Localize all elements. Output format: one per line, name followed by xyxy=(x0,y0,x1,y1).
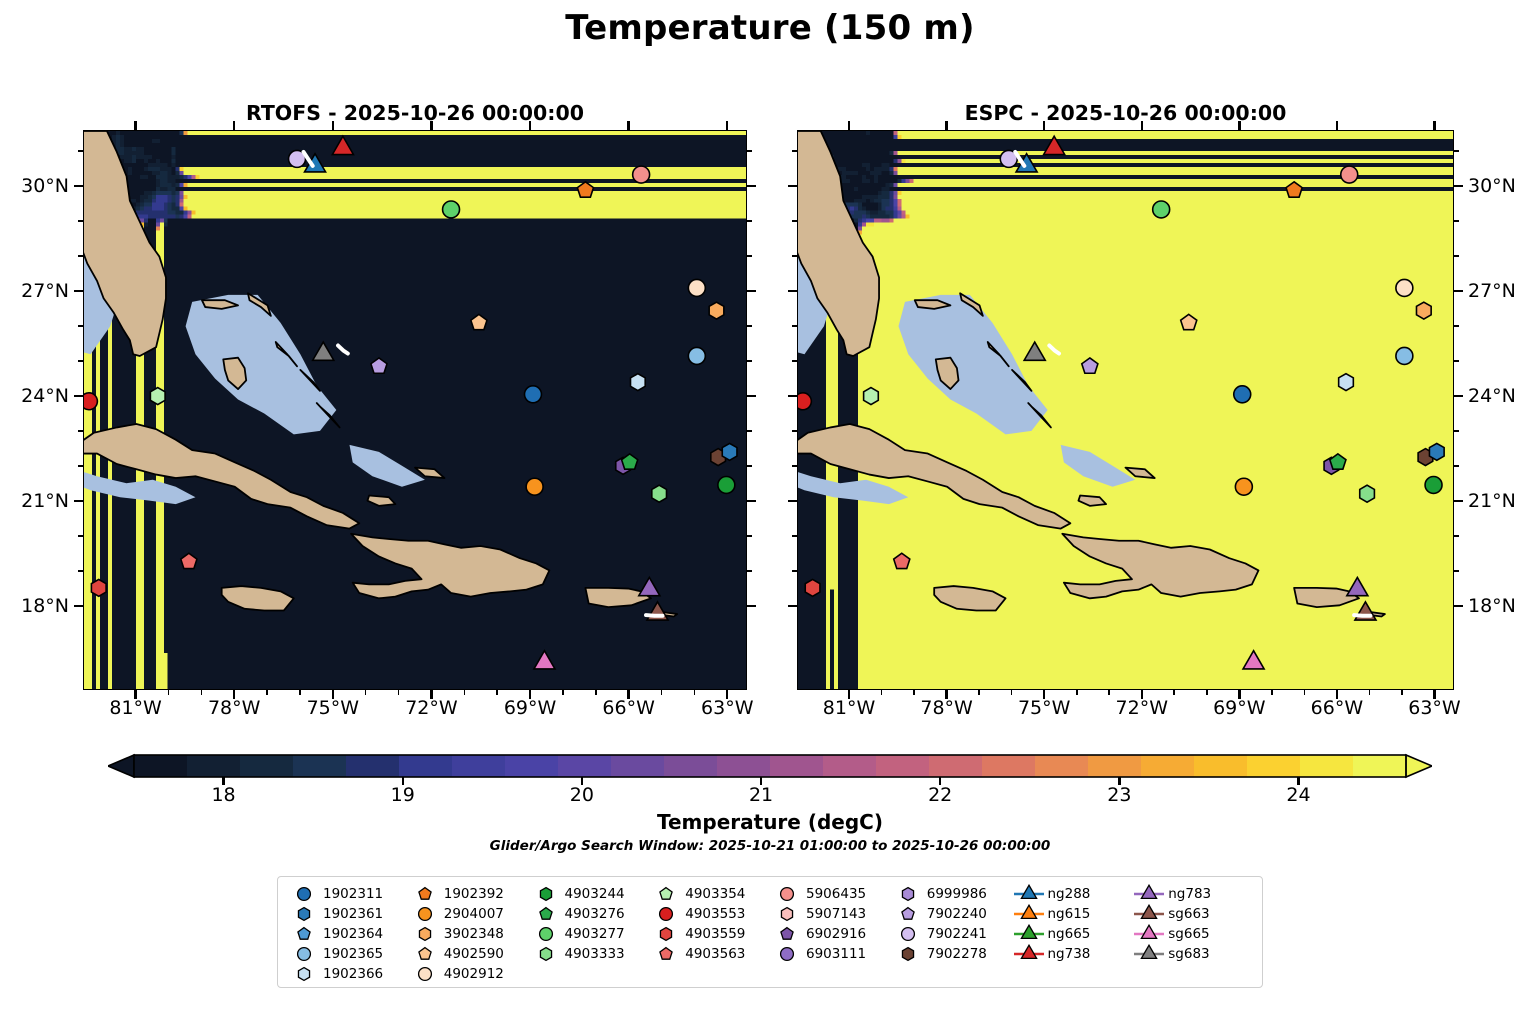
xtick-top-espc-1 xyxy=(945,121,947,130)
ytick-minor-r-espc-0-1 xyxy=(1454,570,1459,572)
ytick-minor-r-espc-3-2 xyxy=(1454,220,1459,222)
legend-marker-ng288-icon xyxy=(1012,884,1046,904)
legend-marker-4903244-icon xyxy=(529,884,563,904)
xtick-label-espc-3: 72°W xyxy=(1116,697,1168,719)
xtick-minor-espc-3-1 xyxy=(1173,690,1175,695)
legend-column-7: ng783sg663sg665sg683 xyxy=(1132,884,1253,964)
ytick-left-espc-1 xyxy=(788,500,797,502)
legend-label-1902364: 1902364 xyxy=(321,926,383,942)
ytick-minor-l-rtofs-1-2 xyxy=(78,430,83,432)
legend-label-1902361: 1902361 xyxy=(321,906,383,922)
marker-1902365[interactable] xyxy=(688,347,705,364)
ytick-minor-l-rtofs-2-2 xyxy=(78,325,83,327)
xtick-top-espc-2 xyxy=(1043,121,1045,130)
colorbar-ticklabel-3: 21 xyxy=(749,784,773,806)
marker-4903277[interactable] xyxy=(443,201,460,218)
xtick-minor-rtofs-4-2 xyxy=(595,690,597,695)
xtick-minor-rtofs-0-2 xyxy=(201,690,203,695)
legend-marker-5907143-icon xyxy=(770,904,804,924)
map-panel-espc[interactable] xyxy=(797,130,1454,690)
xtick-top-rtofs-5 xyxy=(627,121,629,130)
xtick-minor-rtofs-2-1 xyxy=(365,690,367,695)
xtick-minor-rtofs-4-1 xyxy=(562,690,564,695)
xtick-minor-rtofs-1-1 xyxy=(266,690,268,695)
xtick-minor-espc-4-1 xyxy=(1271,690,1273,695)
ytick-label-right-2: 24°N xyxy=(1468,385,1516,407)
legend-label-ng288: ng288 xyxy=(1046,886,1091,902)
legend-label-sg663: sg663 xyxy=(1166,906,1209,922)
colorbar-ticklabel-1: 19 xyxy=(391,784,415,806)
ytick-minor-l-espc-2-2 xyxy=(792,325,797,327)
legend-item-ng288[interactable]: ng288 xyxy=(1012,884,1133,904)
xtick-minor-rtofs-0-1 xyxy=(168,690,170,695)
xtick-top-espc-3 xyxy=(1141,121,1143,130)
legend-label-3902348: 3902348 xyxy=(442,926,504,942)
legend-item-ng615[interactable]: ng615 xyxy=(1012,904,1133,924)
legend-label-6903111: 6903111 xyxy=(804,946,866,962)
ytick-label-right-3: 27°N xyxy=(1468,280,1516,302)
legend-marker-4903354-icon xyxy=(649,884,683,904)
ytick-minor-r-espc-3-1 xyxy=(1454,255,1459,257)
ytick-minor-r-espc-2-2 xyxy=(1454,325,1459,327)
ytick-minor-r-rtofs-3-1 xyxy=(747,255,752,257)
legend-marker-7902278-icon xyxy=(891,944,925,964)
marker-4903559[interactable] xyxy=(91,579,106,596)
xtick-minor-espc-2-1 xyxy=(1076,690,1078,695)
ytick-minor-l-rtofs-1-1 xyxy=(78,465,83,467)
legend-item-7902240[interactable]: 7902240 xyxy=(891,904,1012,924)
ytick-right-espc-0 xyxy=(1454,605,1463,607)
xtick-minor-espc-4-2 xyxy=(1304,690,1306,695)
legend-item-6902916[interactable]: 6902916 xyxy=(770,924,891,944)
xtick-label-espc-6: 63°W xyxy=(1408,697,1460,719)
map-panel-rtofs[interactable] xyxy=(83,130,747,690)
ytick-minor-l-rtofs-0-2 xyxy=(78,535,83,537)
legend-item-1902392[interactable]: 1902392 xyxy=(408,884,529,904)
ytick-right-rtofs-0 xyxy=(747,605,756,607)
legend-item-4902912[interactable]: 4902912 xyxy=(408,964,529,984)
marker-4903354[interactable] xyxy=(864,388,879,405)
xtick-label-espc-0: 81°W xyxy=(823,697,875,719)
marker-1902361[interactable] xyxy=(1429,443,1444,460)
ytick-right-espc-1 xyxy=(1454,500,1463,502)
legend-label-ng738: ng738 xyxy=(1046,946,1091,962)
xtick-top-rtofs-4 xyxy=(529,121,531,130)
legend-item-ng738[interactable]: ng738 xyxy=(1012,944,1133,964)
xtick-minor-rtofs-5-1 xyxy=(661,690,663,695)
legend-label-ng665: ng665 xyxy=(1046,926,1091,942)
ytick-label-left-2: 24°N xyxy=(0,385,69,407)
legend-item-6903111[interactable]: 6903111 xyxy=(770,944,891,964)
legend-label-sg665: sg665 xyxy=(1166,926,1209,942)
legend-item-5907143[interactable]: 5907143 xyxy=(770,904,891,924)
legend-label-4903333: 4903333 xyxy=(563,946,625,962)
xtick-minor-rtofs-5-2 xyxy=(694,690,696,695)
legend-item-4903553[interactable]: 4903553 xyxy=(649,904,770,924)
ytick-minor-l-espc-4-1 xyxy=(792,150,797,152)
ytick-minor-r-espc-1-1 xyxy=(1454,465,1459,467)
marker-1902311[interactable] xyxy=(525,386,542,403)
legend-marker-6902916-icon xyxy=(770,924,804,944)
legend-label-7902241: 7902241 xyxy=(925,926,987,942)
legend-item-4903563[interactable]: 4903563 xyxy=(649,944,770,964)
legend-label-4903553: 4903553 xyxy=(683,906,745,922)
legend-marker-4903277-icon xyxy=(529,924,563,944)
ytick-label-right-4: 30°N xyxy=(1468,175,1516,197)
xtick-top-rtofs-3 xyxy=(430,121,432,130)
legend-label-ng615: ng615 xyxy=(1046,906,1091,922)
ytick-minor-l-rtofs-2-1 xyxy=(78,360,83,362)
legend-marker-1902361-icon xyxy=(287,904,321,924)
xtick-minor-rtofs-2-2 xyxy=(398,690,400,695)
legend-item-5906435[interactable]: 5906435 xyxy=(770,884,891,904)
legend-item-sg665[interactable]: sg665 xyxy=(1132,924,1253,944)
legend-marker-4902590-icon xyxy=(408,944,442,964)
ytick-left-rtofs-2 xyxy=(74,395,83,397)
legend-marker-1902311-icon xyxy=(287,884,321,904)
legend-label-ng783: ng783 xyxy=(1166,886,1211,902)
legend-item-4903333[interactable]: 4903333 xyxy=(529,944,650,964)
ytick-label-right-0: 18°N xyxy=(1468,595,1516,617)
panel-title-rtofs: RTOFS - 2025-10-26 00:00:00 xyxy=(83,101,747,125)
legend-marker-2904007-icon xyxy=(408,904,442,924)
marker-1902311[interactable] xyxy=(1234,386,1251,403)
xtick-top-rtofs-1 xyxy=(233,121,235,130)
legend-item-ng665[interactable]: ng665 xyxy=(1012,924,1133,944)
ytick-minor-r-espc-1-2 xyxy=(1454,430,1459,432)
legend-marker-ng665-icon xyxy=(1012,924,1046,944)
legend-item-1902361[interactable]: 1902361 xyxy=(287,904,408,924)
legend-item-4903354[interactable]: 4903354 xyxy=(649,884,770,904)
legend-label-4903563: 4903563 xyxy=(683,946,745,962)
marker-2904007[interactable] xyxy=(526,478,543,495)
legend-item-sg663[interactable]: sg663 xyxy=(1132,904,1253,924)
xtick-top-espc-4 xyxy=(1238,121,1240,130)
marker-3902348[interactable] xyxy=(1416,302,1431,319)
xtick-minor-espc-3-2 xyxy=(1206,690,1208,695)
xtick-label-espc-4: 69°W xyxy=(1213,697,1265,719)
xtick-label-espc-1: 78°W xyxy=(920,697,972,719)
legend-label-2904007: 2904007 xyxy=(442,906,504,922)
colorbar-gradient xyxy=(108,750,1432,786)
legend-marker-7902241-icon xyxy=(891,924,925,944)
legend-marker-4903333-icon xyxy=(529,944,563,964)
xtick-top-rtofs-6 xyxy=(726,121,728,130)
legend-column-1: 19023922904007390234849025904902912 xyxy=(408,884,529,984)
xtick-minor-rtofs-3-1 xyxy=(464,690,466,695)
legend-item-ng783[interactable]: ng783 xyxy=(1132,884,1253,904)
marker-4903244[interactable] xyxy=(718,477,735,494)
marker-4903559[interactable] xyxy=(805,579,820,596)
glider-track-2 xyxy=(1354,615,1370,616)
ytick-left-espc-0 xyxy=(788,605,797,607)
ytick-minor-r-espc-0-2 xyxy=(1454,535,1459,537)
ytick-minor-r-espc-2-1 xyxy=(1454,360,1459,362)
legend-marker-ng615-icon xyxy=(1012,904,1046,924)
xtick-minor-espc-5-1 xyxy=(1369,690,1371,695)
legend-item-4903277[interactable]: 4903277 xyxy=(529,924,650,944)
xtick-label-rtofs-0: 81°W xyxy=(109,697,161,719)
colorbar-ticklabel-5: 23 xyxy=(1107,784,1131,806)
legend-label-5907143: 5907143 xyxy=(804,906,866,922)
legend-marker-1902364-icon xyxy=(287,924,321,944)
legend-label-1902392: 1902392 xyxy=(442,886,504,902)
ytick-right-rtofs-3 xyxy=(747,290,756,292)
ytick-minor-l-espc-0-1 xyxy=(792,570,797,572)
marker-1902361[interactable] xyxy=(722,443,737,460)
marker-4902912[interactable] xyxy=(688,279,705,296)
ytick-right-rtofs-1 xyxy=(747,500,756,502)
marker-5906435[interactable] xyxy=(633,166,650,183)
xtick-label-espc-2: 75°W xyxy=(1018,697,1070,719)
legend-item-2904007[interactable]: 2904007 xyxy=(408,904,529,924)
legend-item-7902278[interactable]: 7902278 xyxy=(891,944,1012,964)
ytick-label-left-3: 27°N xyxy=(0,280,69,302)
marker-1902365[interactable] xyxy=(1396,347,1413,364)
marker-4903244[interactable] xyxy=(1425,477,1442,494)
legend-label-4903244: 4903244 xyxy=(563,886,625,902)
ytick-label-left-0: 18°N xyxy=(0,595,69,617)
legend-marker-6999986-icon xyxy=(891,884,925,904)
legend-label-7902278: 7902278 xyxy=(925,946,987,962)
xtick-minor-espc-0-2 xyxy=(913,690,915,695)
xtick-top-espc-5 xyxy=(1336,121,1338,130)
marker-4903333[interactable] xyxy=(1360,485,1375,502)
legend-item-3902348[interactable]: 3902348 xyxy=(408,924,529,944)
xtick-label-rtofs-2: 75°W xyxy=(307,697,359,719)
ytick-minor-r-rtofs-4-1 xyxy=(747,150,752,152)
temperature-field-rtofs xyxy=(84,131,746,689)
xtick-label-rtofs-1: 78°W xyxy=(208,697,260,719)
ytick-label-left-1: 21°N xyxy=(0,490,69,512)
ytick-minor-r-rtofs-3-2 xyxy=(747,220,752,222)
ytick-left-rtofs-1 xyxy=(74,500,83,502)
ytick-minor-l-rtofs-3-2 xyxy=(78,220,83,222)
ytick-minor-l-espc-3-1 xyxy=(792,255,797,257)
ytick-left-espc-3 xyxy=(788,290,797,292)
legend-label-4903276: 4903276 xyxy=(563,906,625,922)
ytick-minor-l-espc-0-2 xyxy=(792,535,797,537)
ytick-label-right-1: 21°N xyxy=(1468,490,1516,512)
legend-marker-7902240-icon xyxy=(891,904,925,924)
colorbar-ticklabel-0: 18 xyxy=(211,784,235,806)
legend-item-4903559[interactable]: 4903559 xyxy=(649,924,770,944)
xtick-minor-espc-5-2 xyxy=(1401,690,1403,695)
ytick-minor-r-rtofs-2-2 xyxy=(747,325,752,327)
legend-marker-1902392-icon xyxy=(408,884,442,904)
xtick-top-espc-0 xyxy=(848,121,850,130)
ytick-minor-r-rtofs-1-1 xyxy=(747,465,752,467)
legend-item-1902364[interactable]: 1902364 xyxy=(287,924,408,944)
xtick-minor-espc-2-2 xyxy=(1108,690,1110,695)
marker-1902366[interactable] xyxy=(631,374,646,391)
marker-1902366[interactable] xyxy=(1339,374,1354,391)
legend-marker-3902348-icon xyxy=(408,924,442,944)
legend-marker-6903111-icon xyxy=(770,944,804,964)
legend-item-6999986[interactable]: 6999986 xyxy=(891,884,1012,904)
ytick-left-rtofs-3 xyxy=(74,290,83,292)
xtick-label-rtofs-4: 69°W xyxy=(504,697,556,719)
ytick-minor-r-rtofs-2-1 xyxy=(747,360,752,362)
legend-label-1902366: 1902366 xyxy=(321,966,383,982)
legend-item-4903244[interactable]: 4903244 xyxy=(529,884,650,904)
legend-label-4903559: 4903559 xyxy=(683,926,745,942)
colorbar-ticklabel-2: 20 xyxy=(570,784,594,806)
xtick-label-rtofs-6: 63°W xyxy=(701,697,753,719)
ytick-minor-l-espc-1-2 xyxy=(792,430,797,432)
colorbar-ticklabel-6: 24 xyxy=(1286,784,1310,806)
ytick-minor-r-espc-4-1 xyxy=(1454,150,1459,152)
xtick-top-rtofs-0 xyxy=(134,121,136,130)
xtick-label-rtofs-3: 72°W xyxy=(405,697,457,719)
xtick-minor-espc-1-2 xyxy=(1011,690,1013,695)
ytick-minor-l-espc-2-1 xyxy=(792,360,797,362)
figure-title: Temperature (150 m) xyxy=(0,8,1540,48)
legend-column-6: ng288ng615ng665ng738 xyxy=(1012,884,1133,964)
ytick-right-espc-2 xyxy=(1454,395,1463,397)
legend-label-6999986: 6999986 xyxy=(925,886,987,902)
ytick-minor-l-rtofs-4-1 xyxy=(78,150,83,152)
marker-4903277[interactable] xyxy=(1153,201,1170,218)
search-window-text: Glider/Argo Search Window: 2025-10-21 01… xyxy=(0,838,1540,854)
legend-marker-4903553-icon xyxy=(649,904,683,924)
marker-2904007[interactable] xyxy=(1235,478,1252,495)
ytick-right-espc-4 xyxy=(1454,185,1463,187)
legend-label-5906435: 5906435 xyxy=(804,886,866,902)
legend-marker-ng738-icon xyxy=(1012,944,1046,964)
legend-label-4902590: 4902590 xyxy=(442,946,504,962)
legend-marker-1902365-icon xyxy=(287,944,321,964)
legend-column-3: 4903354490355349035594903563 xyxy=(649,884,770,964)
ytick-minor-l-espc-3-2 xyxy=(792,220,797,222)
legend-marker-1902366-icon xyxy=(287,964,321,984)
legend-item-4903276[interactable]: 4903276 xyxy=(529,904,650,924)
legend-column-5: 6999986790224079022417902278 xyxy=(891,884,1012,964)
ytick-right-rtofs-2 xyxy=(747,395,756,397)
legend-column-4: 5906435590714369029166903111 xyxy=(770,884,891,964)
xtick-minor-espc-1-1 xyxy=(978,690,980,695)
legend-marker-sg665-icon xyxy=(1132,924,1166,944)
marker-3902348[interactable] xyxy=(709,302,724,319)
legend-marker-sg663-icon xyxy=(1132,904,1166,924)
legend-label-1902365: 1902365 xyxy=(321,946,383,962)
legend-label-4903354: 4903354 xyxy=(683,886,745,902)
legend-label-4902912: 4902912 xyxy=(442,966,504,982)
legend-item-4902590[interactable]: 4902590 xyxy=(408,944,529,964)
legend-marker-4902912-icon xyxy=(408,964,442,984)
marker-4903354[interactable] xyxy=(150,388,165,405)
ytick-minor-r-rtofs-1-2 xyxy=(747,430,752,432)
legend-item-7902241[interactable]: 7902241 xyxy=(891,924,1012,944)
legend-column-0: 19023111902361190236419023651902366 xyxy=(287,884,408,984)
marker-4902912[interactable] xyxy=(1396,279,1413,296)
legend-marker-ng783-icon xyxy=(1132,884,1166,904)
legend-label-1902311: 1902311 xyxy=(321,886,383,902)
legend-column-2: 4903244490327649032774903333 xyxy=(529,884,650,964)
xtick-top-rtofs-2 xyxy=(332,121,334,130)
legend-label-4903277: 4903277 xyxy=(563,926,625,942)
colorbar xyxy=(108,750,1432,786)
legend-label-sg683: sg683 xyxy=(1166,946,1209,962)
ytick-minor-r-rtofs-0-1 xyxy=(747,570,752,572)
marker-4903553[interactable] xyxy=(798,393,811,410)
legend-marker-5906435-icon xyxy=(770,884,804,904)
glider-track-2 xyxy=(646,615,662,616)
ytick-left-espc-2 xyxy=(788,395,797,397)
ytick-minor-l-rtofs-0-1 xyxy=(78,570,83,572)
ytick-left-espc-4 xyxy=(788,185,797,187)
xtick-minor-espc-0-1 xyxy=(881,690,883,695)
ytick-right-rtofs-4 xyxy=(747,185,756,187)
legend-marker-4903276-icon xyxy=(529,904,563,924)
ytick-left-rtofs-0 xyxy=(74,605,83,607)
xtick-label-rtofs-5: 66°W xyxy=(602,697,654,719)
legend-marker-sg683-icon xyxy=(1132,944,1166,964)
panel-title-espc: ESPC - 2025-10-26 00:00:00 xyxy=(797,101,1454,125)
xtick-top-espc-6 xyxy=(1433,121,1435,130)
ytick-minor-l-rtofs-3-1 xyxy=(78,255,83,257)
legend-item-1902365[interactable]: 1902365 xyxy=(287,944,408,964)
marker-4903553[interactable] xyxy=(84,393,97,410)
temperature-field-espc xyxy=(798,131,1453,689)
xtick-minor-rtofs-1-2 xyxy=(299,690,301,695)
ytick-label-left-4: 30°N xyxy=(0,175,69,197)
legend-label-7902240: 7902240 xyxy=(925,906,987,922)
ytick-minor-l-espc-1-1 xyxy=(792,465,797,467)
colorbar-title: Temperature (degC) xyxy=(0,810,1540,834)
legend-label-6902916: 6902916 xyxy=(804,926,866,942)
legend[interactable]: 1902311190236119023641902365190236619023… xyxy=(277,876,1263,988)
ytick-left-rtofs-4 xyxy=(74,185,83,187)
xtick-label-espc-5: 66°W xyxy=(1311,697,1363,719)
legend-marker-4903559-icon xyxy=(649,924,683,944)
legend-marker-4903563-icon xyxy=(649,944,683,964)
legend-item-sg683[interactable]: sg683 xyxy=(1132,944,1253,964)
ytick-minor-r-rtofs-0-2 xyxy=(747,535,752,537)
ytick-right-espc-3 xyxy=(1454,290,1463,292)
marker-4903333[interactable] xyxy=(652,485,667,502)
legend-item-1902366[interactable]: 1902366 xyxy=(287,964,408,984)
marker-5906435[interactable] xyxy=(1341,166,1358,183)
colorbar-ticklabel-4: 22 xyxy=(928,784,952,806)
legend-item-1902311[interactable]: 1902311 xyxy=(287,884,408,904)
xtick-minor-rtofs-3-2 xyxy=(496,690,498,695)
